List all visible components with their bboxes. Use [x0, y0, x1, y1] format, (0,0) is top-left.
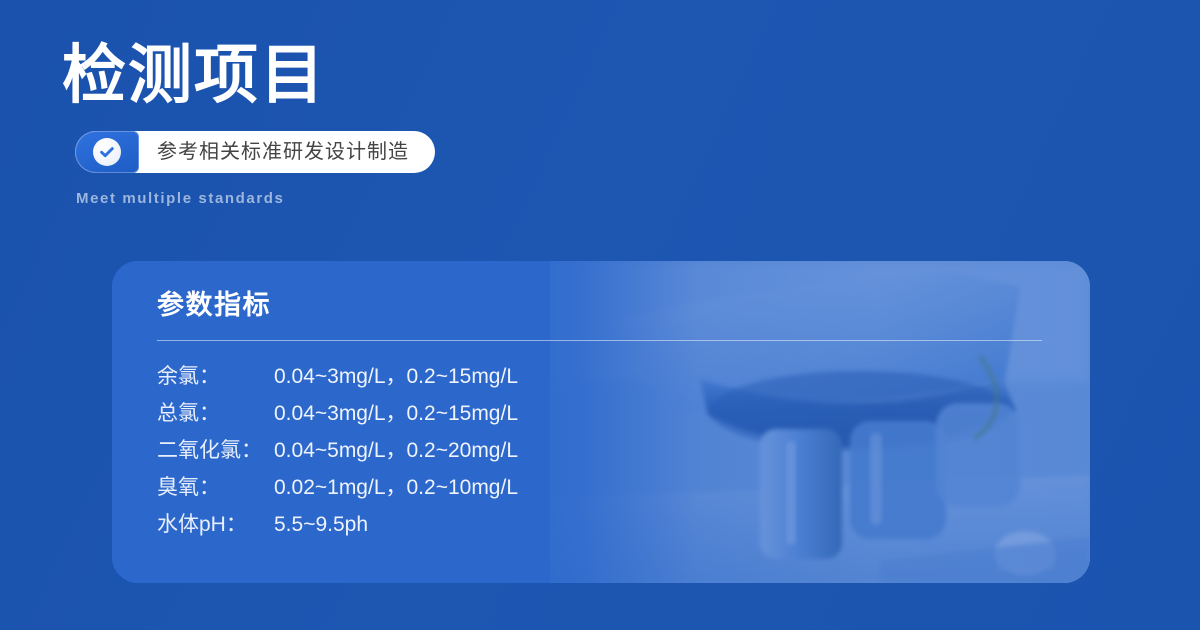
spec-row: 水体pH： 5.5~9.5ph	[157, 506, 518, 543]
page-title: 检测项目	[62, 40, 682, 112]
check-circle-icon	[93, 138, 121, 166]
spec-value: 0.04~3mg/L，0.2~15mg/L	[268, 358, 518, 395]
badge-icon-container	[75, 131, 139, 173]
spec-label: 臭氧：	[157, 469, 268, 506]
spec-value: 0.02~1mg/L，0.2~10mg/L	[268, 469, 518, 506]
standards-badge: 参考相关标准研发设计制造	[75, 131, 435, 173]
spec-row: 二氧化氯： 0.04~5mg/L，0.2~20mg/L	[157, 432, 518, 469]
spec-value: 5.5~9.5ph	[268, 506, 518, 543]
spec-label: 水体pH：	[157, 506, 268, 543]
card-divider	[157, 340, 1042, 341]
promo-banner: 检测项目 参考相关标准研发设计制造 Meet multiple standard…	[0, 0, 1200, 630]
card-content: 参数指标 余氯： 0.04~3mg/L，0.2~15mg/L 总氯： 0.04~…	[157, 285, 1090, 583]
spec-table: 余氯： 0.04~3mg/L，0.2~15mg/L 总氯： 0.04~3mg/L…	[157, 358, 518, 543]
badge-label: 参考相关标准研发设计制造	[139, 131, 435, 173]
spec-value: 0.04~5mg/L，0.2~20mg/L	[268, 432, 518, 469]
spec-row: 臭氧： 0.02~1mg/L，0.2~10mg/L	[157, 469, 518, 506]
subtitle-en: Meet multiple standards	[76, 190, 682, 207]
spec-label: 二氧化氯：	[157, 432, 268, 469]
spec-label: 余氯：	[157, 358, 268, 395]
spec-row: 余氯： 0.04~3mg/L，0.2~15mg/L	[157, 358, 518, 395]
card-title: 参数指标	[157, 285, 1090, 325]
header-block: 检测项目 参考相关标准研发设计制造 Meet multiple standard…	[62, 40, 682, 207]
spec-value: 0.04~3mg/L，0.2~15mg/L	[268, 395, 518, 432]
spec-row: 总氯： 0.04~3mg/L，0.2~15mg/L	[157, 395, 518, 432]
spec-label: 总氯：	[157, 395, 268, 432]
parameters-card: 参数指标 余氯： 0.04~3mg/L，0.2~15mg/L 总氯： 0.04~…	[112, 261, 1090, 583]
